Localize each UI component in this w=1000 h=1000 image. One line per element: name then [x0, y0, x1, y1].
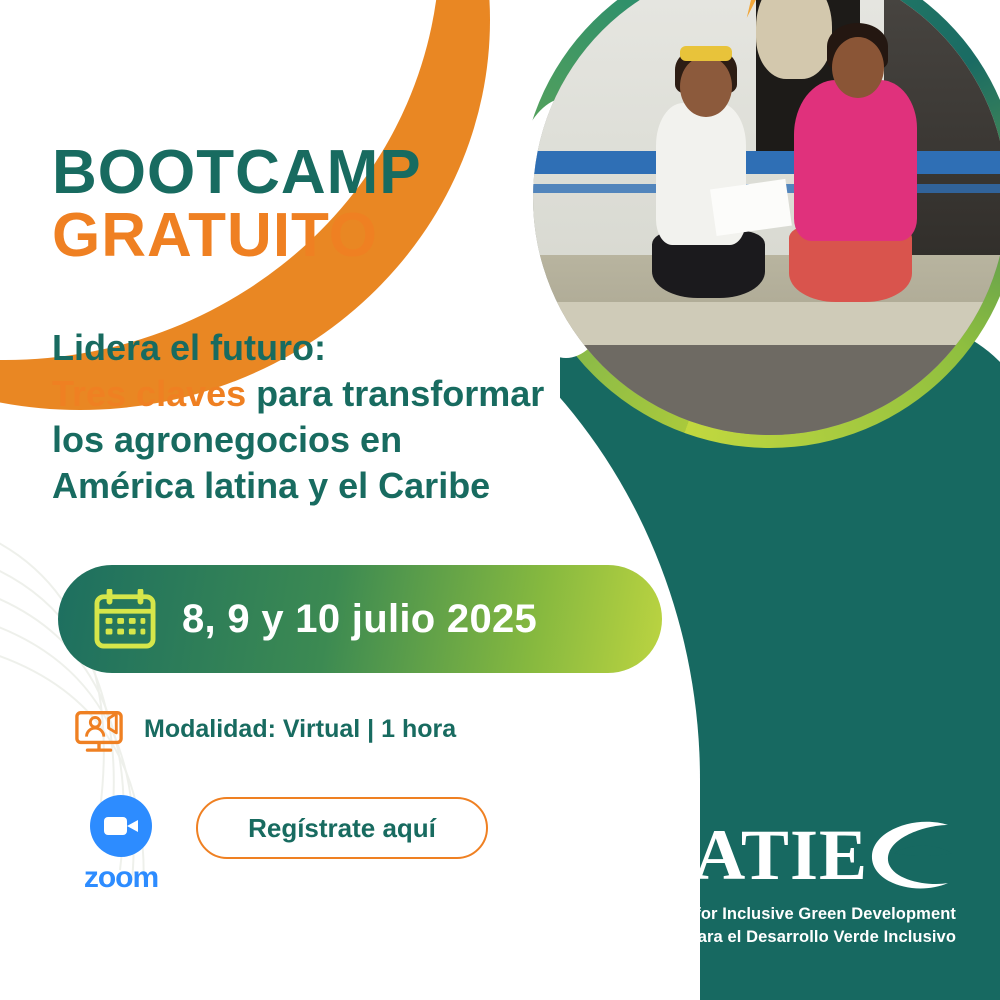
modality-row: Modalidad: Virtual | 1 hora [74, 705, 456, 753]
subtitle-line-4: América latina y el Caribe [52, 465, 490, 506]
date-text: 8, 9 y 10 julio 2025 [182, 597, 537, 642]
subtitle-block: Lidera el futuro: Tres claves para trans… [52, 325, 742, 509]
promotional-poster: BOOTCAMP GRATUITO Lidera el futuro: Tres… [0, 0, 1000, 1000]
register-button[interactable]: Regístrate aquí [196, 797, 488, 859]
subtitle-line-3: los agronegocios en [52, 419, 402, 460]
catie-tagline-es: Soluciones para el Desarrollo Verde Incl… [594, 926, 956, 948]
catie-wordmark: CATIE [640, 822, 868, 888]
subtitle-accent: Tres claves [52, 373, 246, 414]
catie-tagline-en: Solutions for Inclusive Green Developmen… [594, 903, 956, 925]
calendar-icon [94, 589, 156, 649]
zoom-camera-icon [90, 795, 152, 857]
catie-logo: CATIE Solutions for Inclusive Green Deve… [594, 813, 956, 948]
catie-swoosh-icon [860, 813, 956, 897]
subtitle-line-1: Lidera el futuro: [52, 327, 326, 368]
zoom-logo: zoom [62, 795, 180, 895]
zoom-wordmark: zoom [62, 861, 180, 895]
modality-text: Modalidad: Virtual | 1 hora [144, 715, 456, 744]
headline-line-1: BOOTCAMP [52, 142, 422, 204]
subtitle-line-2-rest: para transformar [246, 373, 544, 414]
date-banner: 8, 9 y 10 julio 2025 [58, 565, 662, 673]
monitor-person-icon [74, 705, 124, 753]
headline-line-2: GRATUITO [52, 205, 378, 267]
